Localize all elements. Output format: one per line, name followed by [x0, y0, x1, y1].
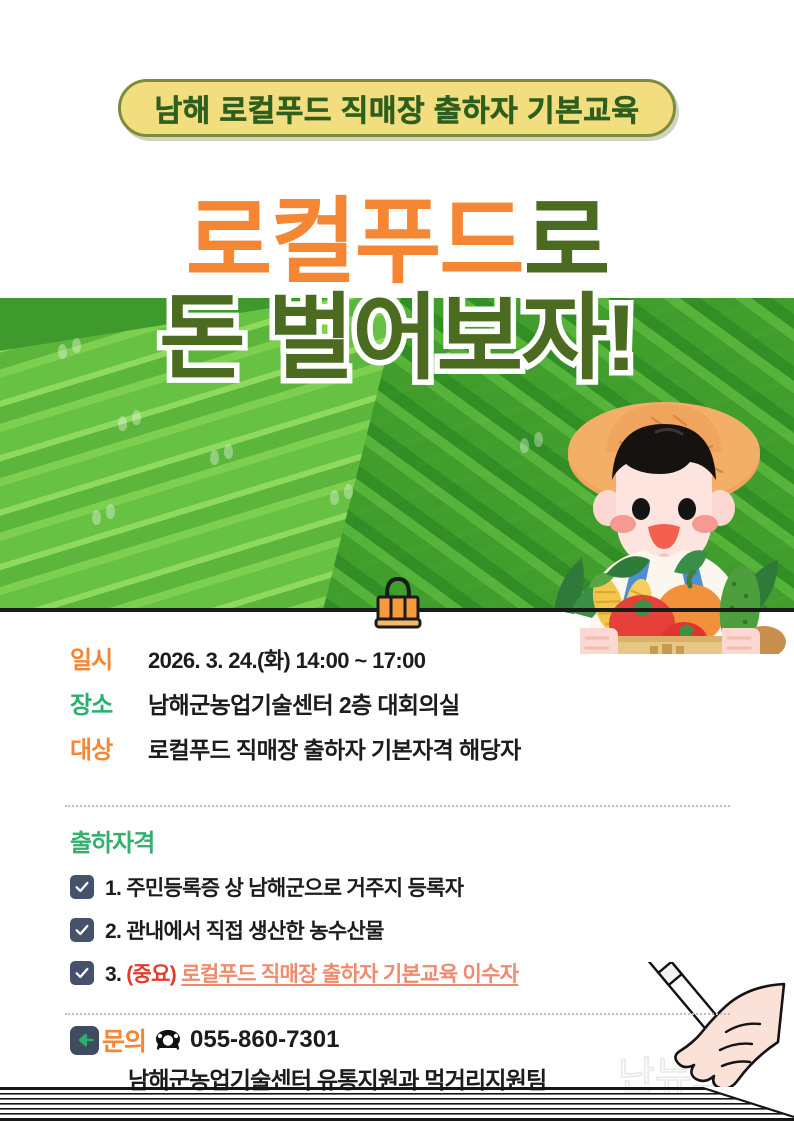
info-value-audience: 로컬푸드 직매장 출하자 기본자격 해당자 — [148, 731, 521, 765]
arrow-left-glyph — [75, 1030, 95, 1050]
qualification-title: 출하자격 — [70, 823, 750, 858]
farmer-svg — [524, 396, 792, 654]
info-label-date: 일시 — [70, 640, 148, 675]
check-icon — [74, 965, 90, 981]
farmer-illustration — [524, 396, 792, 654]
poster-root: 남해 로컬푸드 직매장 출하자 기본교육 — [0, 0, 794, 1123]
title-banner-text: 남해 로컬푸드 직매장 출하자 기본교육 — [155, 86, 640, 130]
title-banner-wrapper: 남해 로컬푸드 직매장 출하자 기본교육 — [0, 79, 794, 137]
field-leaf-dot — [58, 344, 67, 359]
contact-phone-number[interactable]: 055-860-7301 — [190, 1026, 339, 1054]
binder-clip-icon — [370, 569, 426, 631]
headline-line1-tail: 로 — [524, 189, 608, 294]
telephone-glyph — [154, 1028, 182, 1052]
field-leaf-dot — [224, 444, 233, 459]
check-icon — [74, 922, 90, 938]
headline-highlight: 로컬푸드 — [186, 189, 524, 294]
qualification-item-body: 관내에서 직접 생산한 농수산물 — [126, 920, 383, 943]
field-leaf-dot — [430, 358, 439, 373]
info-value-date: 2026. 3. 24.(화) 14:00 ~ 17:00 — [148, 643, 425, 675]
binder-clip-svg — [370, 569, 426, 631]
qualification-item-text: 1. 주민등록증 상 남해군으로 거주지 등록자 — [105, 872, 463, 902]
arrow-left-icon — [70, 1026, 99, 1055]
info-block: 일시 2026. 3. 24.(화) 14:00 ~ 17:00 장소 남해군농… — [70, 640, 730, 775]
info-label-place: 장소 — [70, 685, 148, 720]
qualification-item: 3. (중요) 로컬푸드 직매장 출하자 기본교육 이수자 — [70, 958, 750, 988]
field-leaf-dot — [106, 504, 115, 519]
qualification-item-text: 2. 관내에서 직접 생산한 농수산물 — [105, 915, 384, 945]
field-leaf-dot — [118, 416, 127, 431]
qualification-item-number: 3. — [105, 963, 121, 986]
contact-primary-line: 문의 055-860-7301 — [70, 1022, 760, 1058]
checkbox-checked-icon[interactable] — [70, 961, 94, 985]
field-leaf-dot — [132, 410, 141, 425]
qualification-item-body: 로컬푸드 직매장 출하자 기본교육 이수자 — [181, 963, 518, 986]
qualification-item: 2. 관내에서 직접 생산한 농수산물 — [70, 915, 750, 945]
dotted-divider-top — [65, 805, 730, 807]
headline-line-1: 로컬푸드로 — [0, 196, 794, 288]
info-value-place: 남해군농업기술센터 2층 대회의실 — [148, 686, 460, 720]
qualification-item-number: 1. — [105, 877, 121, 900]
info-row-place: 장소 남해군농업기술센터 2층 대회의실 — [70, 685, 730, 720]
title-banner: 남해 로컬푸드 직매장 출하자 기본교육 — [118, 79, 677, 137]
info-row-date: 일시 2026. 3. 24.(화) 14:00 ~ 17:00 — [70, 640, 730, 675]
field-leaf-dot — [210, 450, 219, 465]
field-leaf-dot — [330, 490, 339, 505]
checkbox-checked-icon[interactable] — [70, 918, 94, 942]
field-leaf-dot — [344, 484, 353, 499]
dotted-divider-bottom — [65, 1013, 730, 1015]
qualification-item-body: 주민등록증 상 남해군으로 거주지 등록자 — [126, 877, 463, 900]
footer-stripes-svg — [0, 1087, 794, 1123]
contact-block: 문의 055-860-7301 남해군농업기술센터 유통지원과 먹거리지원팀 — [70, 1022, 760, 1095]
contact-label: 문의 — [102, 1022, 146, 1058]
field-leaf-dot — [72, 338, 81, 353]
footer-stripes — [0, 1087, 794, 1123]
info-label-audience: 대상 — [70, 730, 148, 765]
field-leaf-dot — [92, 510, 101, 525]
telephone-icon — [154, 1028, 182, 1052]
qualification-block: 출하자격 1. 주민등록증 상 남해군으로 거주지 등록자 2. 관내에서 직접… — [70, 823, 750, 1001]
qualification-item-emphasis: (중요) — [126, 963, 176, 986]
qualification-item-number: 2. — [105, 920, 121, 943]
checkbox-checked-icon[interactable] — [70, 875, 94, 899]
check-icon — [74, 879, 90, 895]
qualification-item-text: 3. (중요) 로컬푸드 직매장 출하자 기본교육 이수자 — [105, 958, 518, 988]
field-leaf-dot — [444, 352, 453, 367]
qualification-item: 1. 주민등록증 상 남해군으로 거주지 등록자 — [70, 872, 750, 902]
info-row-audience: 대상 로컬푸드 직매장 출하자 기본자격 해당자 — [70, 730, 730, 765]
